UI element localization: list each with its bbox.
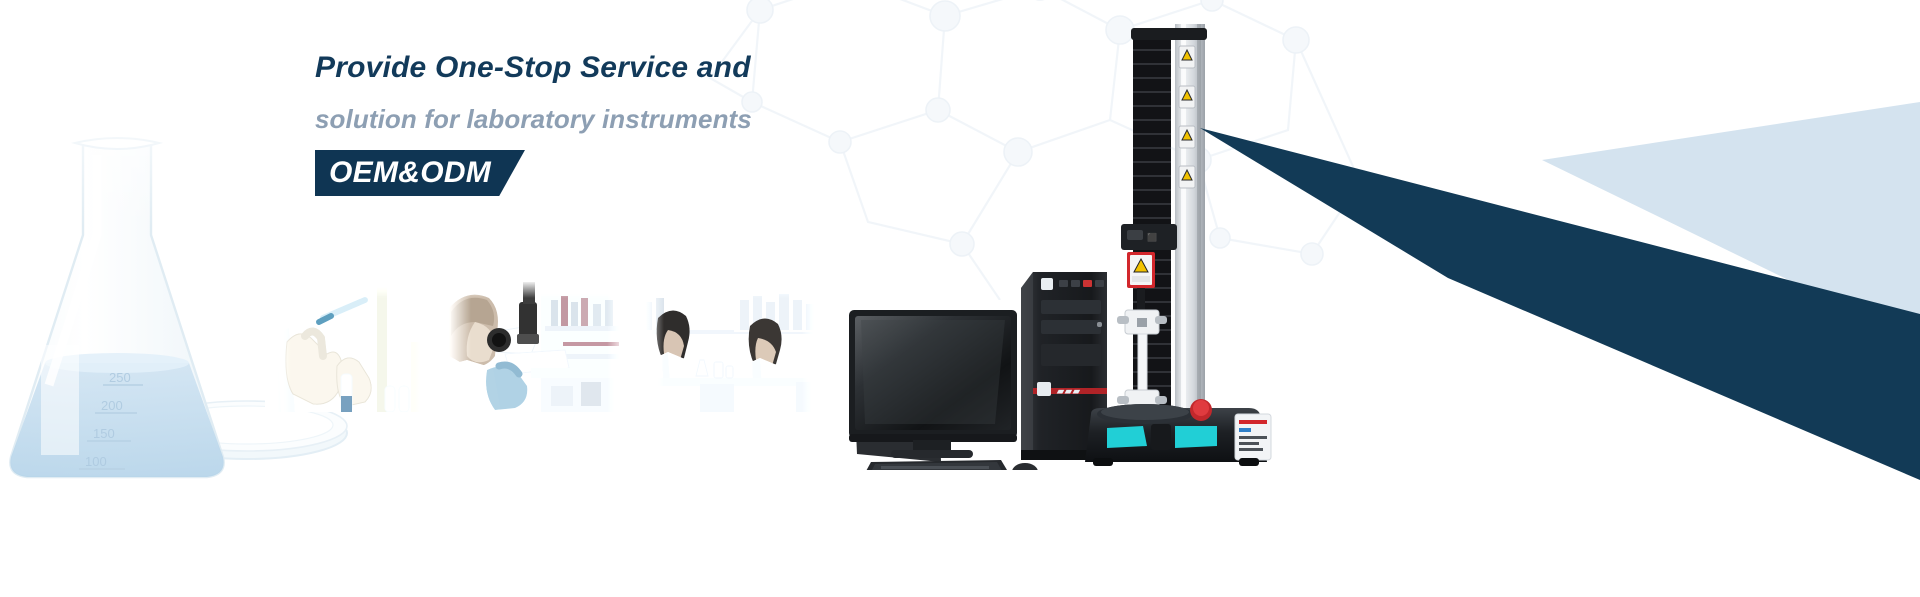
- headline-line-2: solution for laboratory instruments: [315, 106, 935, 133]
- photo-fade-top: [638, 282, 824, 298]
- svg-text:200: 200: [101, 398, 123, 413]
- arrow-graphics: [1190, 100, 1920, 480]
- photo-fade-left: [445, 282, 471, 412]
- light-blue-triangle: [1542, 102, 1920, 344]
- headline-copy-block: Provide One-Stop Service and solution fo…: [315, 52, 935, 196]
- lab-photo-microscope: [445, 282, 629, 412]
- dark-navy-arrow: [1200, 128, 1920, 480]
- desktop-monitor: [849, 310, 1017, 462]
- photo-fade-left: [265, 282, 291, 412]
- machine-base: [1085, 399, 1271, 466]
- svg-text:150: 150: [93, 426, 115, 441]
- keyboard: [859, 460, 1013, 470]
- photo-fade-right: [414, 282, 436, 412]
- lab-photo-technicians: [638, 282, 824, 412]
- photo-fade-right: [802, 282, 824, 412]
- photo-fade-top: [265, 282, 436, 298]
- photo-fade-top: [445, 282, 629, 298]
- specimen-grip-lower: [1117, 390, 1167, 414]
- computer-tower: ▰▰▰: [1021, 272, 1107, 460]
- photo-strip: [265, 282, 824, 412]
- svg-text:250: 250: [109, 370, 131, 385]
- hero-banner: 250 200 150 100 Provide One-Stop Service…: [0, 0, 1920, 597]
- lab-photo-pipetting: [265, 282, 436, 412]
- erlenmeyer-flask: 250 200 150 100: [10, 138, 223, 477]
- headline-line-1: Provide One-Stop Service and: [315, 52, 935, 84]
- svg-text:100: 100: [85, 454, 107, 469]
- svg-text:▰▰▰: ▰▰▰: [1056, 386, 1081, 396]
- oem-odm-badge: OEM&ODM: [315, 150, 525, 196]
- warning-labels: [1179, 46, 1195, 188]
- specimen-grip-upper: [1117, 310, 1167, 334]
- universal-testing-machine: ⬛: [1085, 24, 1271, 466]
- photo-fade-right: [607, 282, 629, 412]
- photo-fade-left: [638, 282, 664, 412]
- mouse: [1012, 463, 1038, 470]
- svg-text:⬛: ⬛: [1147, 232, 1157, 242]
- oem-odm-badge-wrapper: OEM&ODM: [315, 150, 525, 196]
